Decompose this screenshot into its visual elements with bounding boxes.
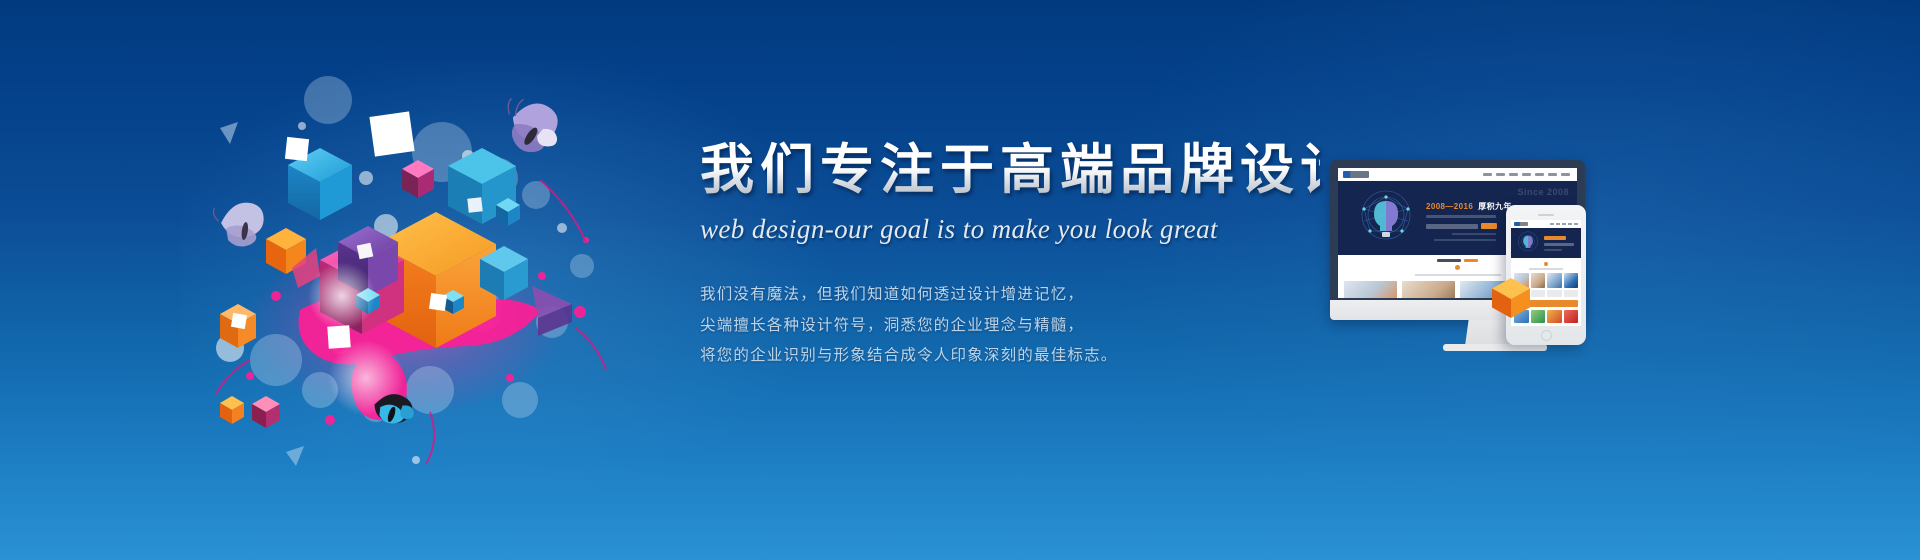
mobile-nav xyxy=(1550,223,1578,225)
nav-item xyxy=(1561,173,1570,176)
thumbnail[interactable] xyxy=(1531,273,1546,288)
orange-cube-accent xyxy=(1492,278,1530,318)
site-header xyxy=(1338,168,1577,181)
hero-cta-button[interactable] xyxy=(1481,223,1497,229)
hero-year-label: 2008—2016厚积九年 xyxy=(1426,201,1512,212)
caption xyxy=(1547,290,1562,297)
description-line: 将您的企业识别与形象结合成令人印象深刻的最佳标志。 xyxy=(700,348,1320,364)
thumbnail[interactable] xyxy=(1402,281,1455,298)
nav-item xyxy=(1550,223,1554,225)
monitor-stand-base xyxy=(1443,344,1547,351)
section-title-bar xyxy=(1437,259,1461,262)
section-subline xyxy=(1415,274,1501,276)
tablet-mockup xyxy=(1506,205,1586,345)
description-line: 尖端擅长各种设计符号，洞悉您的企业理念与精髓， xyxy=(700,318,1320,334)
section-dot xyxy=(1455,265,1460,270)
copy-block: 我们专注于高端品牌设计 web design-our goal is to ma… xyxy=(700,140,1320,379)
mobile-section-dot xyxy=(1544,262,1548,266)
page-title: 我们专注于高端品牌设计 xyxy=(700,140,1320,200)
mobile-logo xyxy=(1514,222,1528,226)
lightbulb-network-graphic xyxy=(1516,231,1540,255)
tablet-speaker xyxy=(1538,214,1554,216)
hero-line xyxy=(1452,233,1496,235)
thumbnail[interactable] xyxy=(1564,273,1579,288)
nav-item xyxy=(1574,223,1578,225)
mobile-hero xyxy=(1511,228,1581,258)
caption xyxy=(1564,290,1579,297)
butterfly-icon xyxy=(498,96,564,158)
description-line: 我们没有魔法，但我们知道如何透过设计增进记忆， xyxy=(700,287,1320,303)
thumbnail[interactable] xyxy=(1547,273,1562,288)
mobile-header xyxy=(1511,220,1581,228)
nav-item xyxy=(1522,173,1531,176)
hero-text: 2008—2016厚积九年 xyxy=(1426,201,1512,241)
nav-item xyxy=(1509,173,1518,176)
hero-text-bar xyxy=(1426,224,1478,229)
mobile-hero-subtitle xyxy=(1544,243,1574,246)
site-nav xyxy=(1483,173,1570,176)
hero-line xyxy=(1434,239,1496,241)
hero-banner: 我们专注于高端品牌设计 web design-our goal is to ma… xyxy=(0,0,1920,560)
nav-item xyxy=(1556,223,1560,225)
nav-item xyxy=(1496,173,1505,176)
footer-thumbnail[interactable] xyxy=(1547,310,1562,323)
mobile-hero-title xyxy=(1544,236,1566,240)
nav-item xyxy=(1535,173,1544,176)
description-paragraph: 我们没有魔法，但我们知道如何透过设计增进记忆， 尖端擅长各种设计符号，洞悉您的企… xyxy=(700,287,1320,364)
caption xyxy=(1531,290,1546,297)
butterfly-icon xyxy=(213,200,268,251)
lightbulb-network-graphic xyxy=(1356,189,1416,249)
nav-item xyxy=(1562,223,1566,225)
device-mockups: Since 2008 xyxy=(1330,160,1660,380)
abstract-artwork xyxy=(180,60,640,480)
hero-subtitle-bar xyxy=(1426,215,1496,218)
mobile-hero-line xyxy=(1544,249,1562,251)
hero-since-label: Since 2008 xyxy=(1517,187,1569,197)
footer-thumbnail[interactable] xyxy=(1564,310,1579,323)
tablet-home-button[interactable] xyxy=(1541,330,1552,341)
mobile-section-line xyxy=(1529,268,1563,270)
footer-thumbnail[interactable] xyxy=(1531,310,1546,323)
nav-item xyxy=(1548,173,1557,176)
thumbnail[interactable] xyxy=(1344,281,1397,298)
section-title-accent xyxy=(1464,259,1478,262)
page-subtitle: web design-our goal is to make you look … xyxy=(700,214,1320,245)
site-logo xyxy=(1343,171,1369,178)
nav-item xyxy=(1483,173,1492,176)
hero-cta-row xyxy=(1426,223,1512,229)
nav-item xyxy=(1568,223,1572,225)
